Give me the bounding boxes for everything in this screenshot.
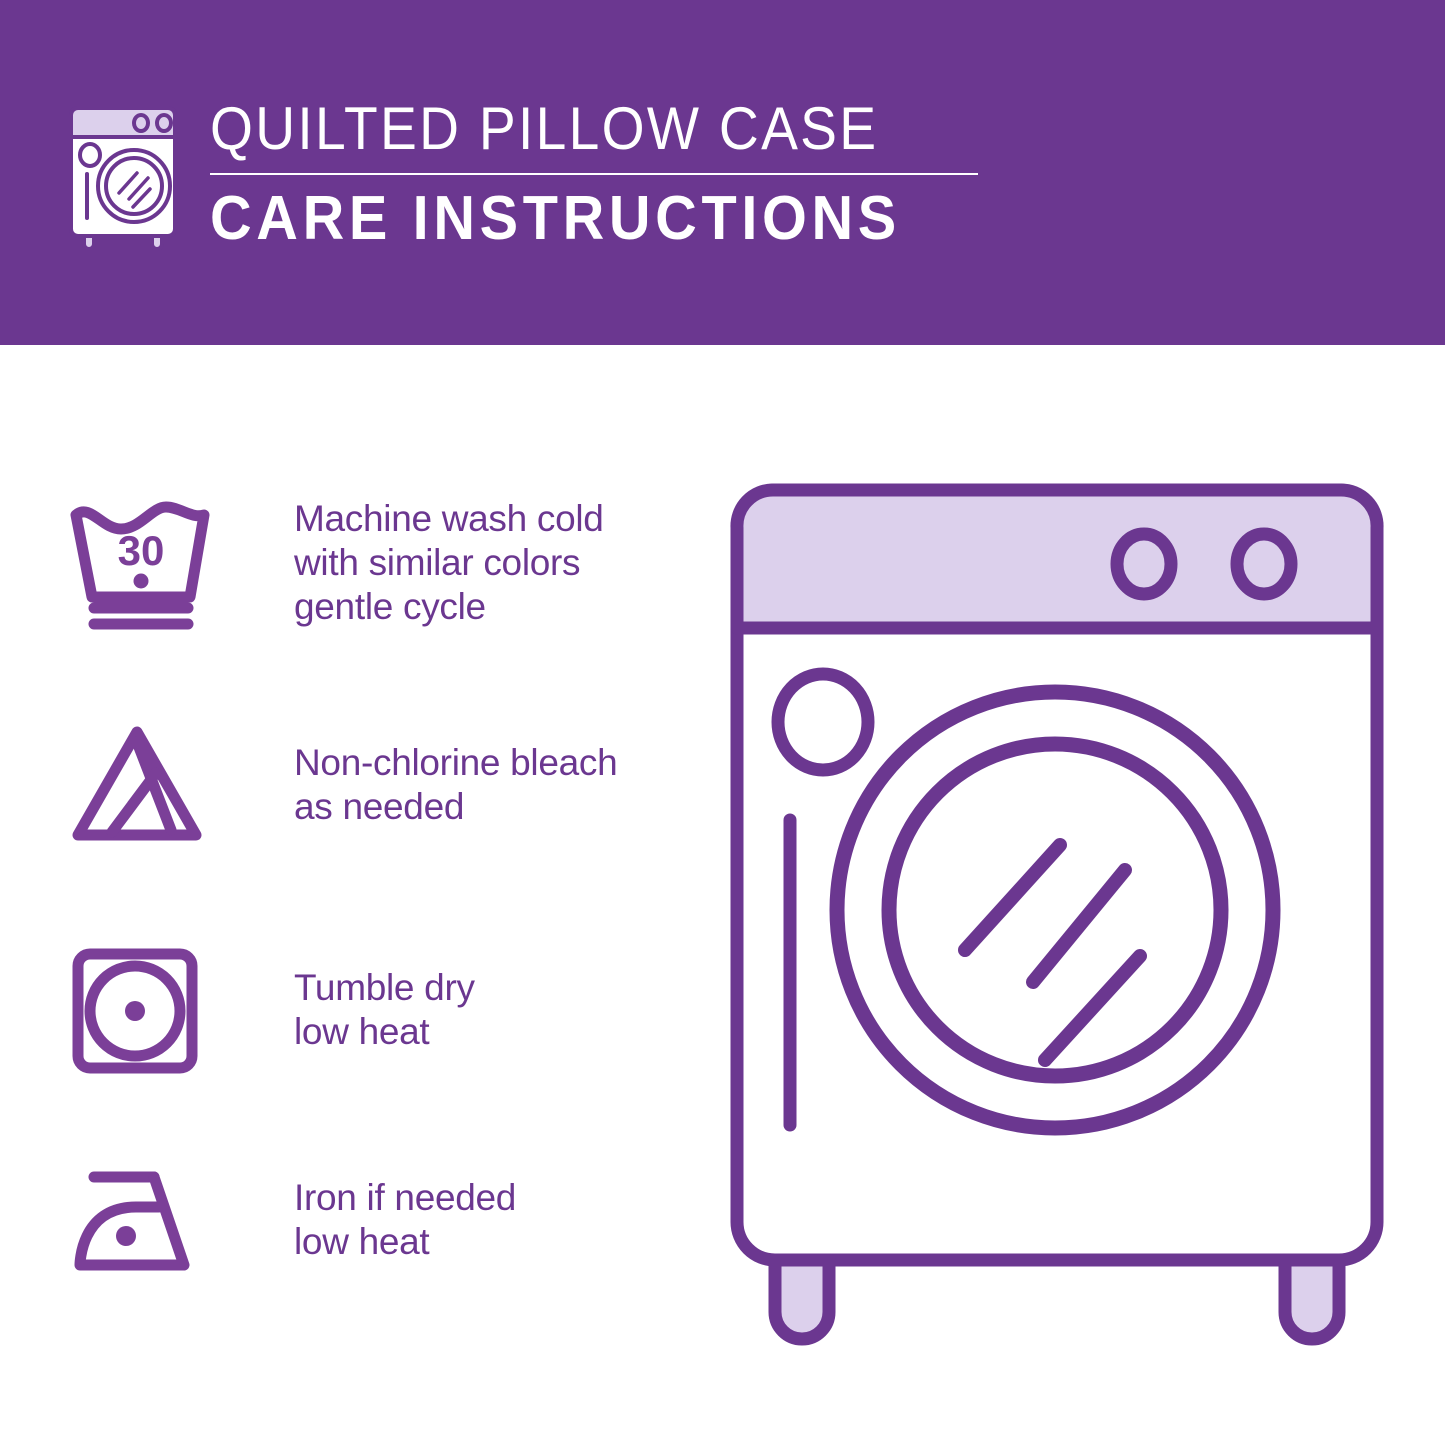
care-line: low heat (294, 1220, 516, 1264)
wash-temperature-label: 30 (118, 527, 165, 574)
machine-wash-30-gentle-symbol: 30 (66, 493, 216, 633)
non-chlorine-bleach-triangle-symbol (66, 720, 216, 850)
iron-low-heat-symbol (66, 1155, 216, 1285)
care-row-machine-wash: 30 Machine wash cold with similar colors… (66, 493, 686, 633)
care-line: Tumble dry (294, 966, 475, 1010)
control-knob (1237, 534, 1291, 594)
control-knob (1117, 534, 1171, 594)
page-subtitle: CARE INSTRUCTIONS (210, 184, 954, 254)
care-line: Machine wash cold (294, 497, 604, 541)
tumble-dry-low-heat-symbol (66, 940, 216, 1080)
care-text-bleach: Non-chlorine bleach as needed (294, 741, 617, 829)
care-text-machine-wash: Machine wash cold with similar colors ge… (294, 497, 604, 629)
washing-machine-icon (62, 100, 184, 250)
header-title-block: QUILTED PILLOW CASE CARE INSTRUCTIONS (210, 96, 1010, 254)
page-title: QUILTED PILLOW CASE (210, 96, 946, 162)
care-line: Non-chlorine bleach (294, 741, 617, 785)
care-line: Iron if needed (294, 1176, 516, 1220)
door-inner-ring (889, 744, 1221, 1076)
care-row-tumble-dry: Tumble dry low heat (66, 940, 686, 1080)
care-line: low heat (294, 1010, 475, 1054)
detergent-dispenser (778, 674, 868, 770)
care-instruction-list: 30 Machine wash cold with similar colors… (0, 345, 700, 1445)
machine-leg (1285, 1260, 1339, 1339)
header-banner: QUILTED PILLOW CASE CARE INSTRUCTIONS (0, 0, 1445, 345)
front-load-washing-machine-illustration (715, 470, 1415, 1370)
care-text-iron: Iron if needed low heat (294, 1176, 516, 1264)
machine-leg (775, 1260, 829, 1339)
care-text-tumble-dry: Tumble dry low heat (294, 966, 475, 1054)
care-instructions-page: QUILTED PILLOW CASE CARE INSTRUCTIONS 30 (0, 0, 1445, 1445)
care-line: with similar colors (294, 541, 604, 585)
care-line: gentle cycle (294, 585, 604, 629)
care-line: as needed (294, 785, 617, 829)
care-row-bleach: Non-chlorine bleach as needed (66, 720, 686, 850)
care-row-iron: Iron if needed low heat (66, 1155, 686, 1285)
title-divider (210, 173, 978, 175)
